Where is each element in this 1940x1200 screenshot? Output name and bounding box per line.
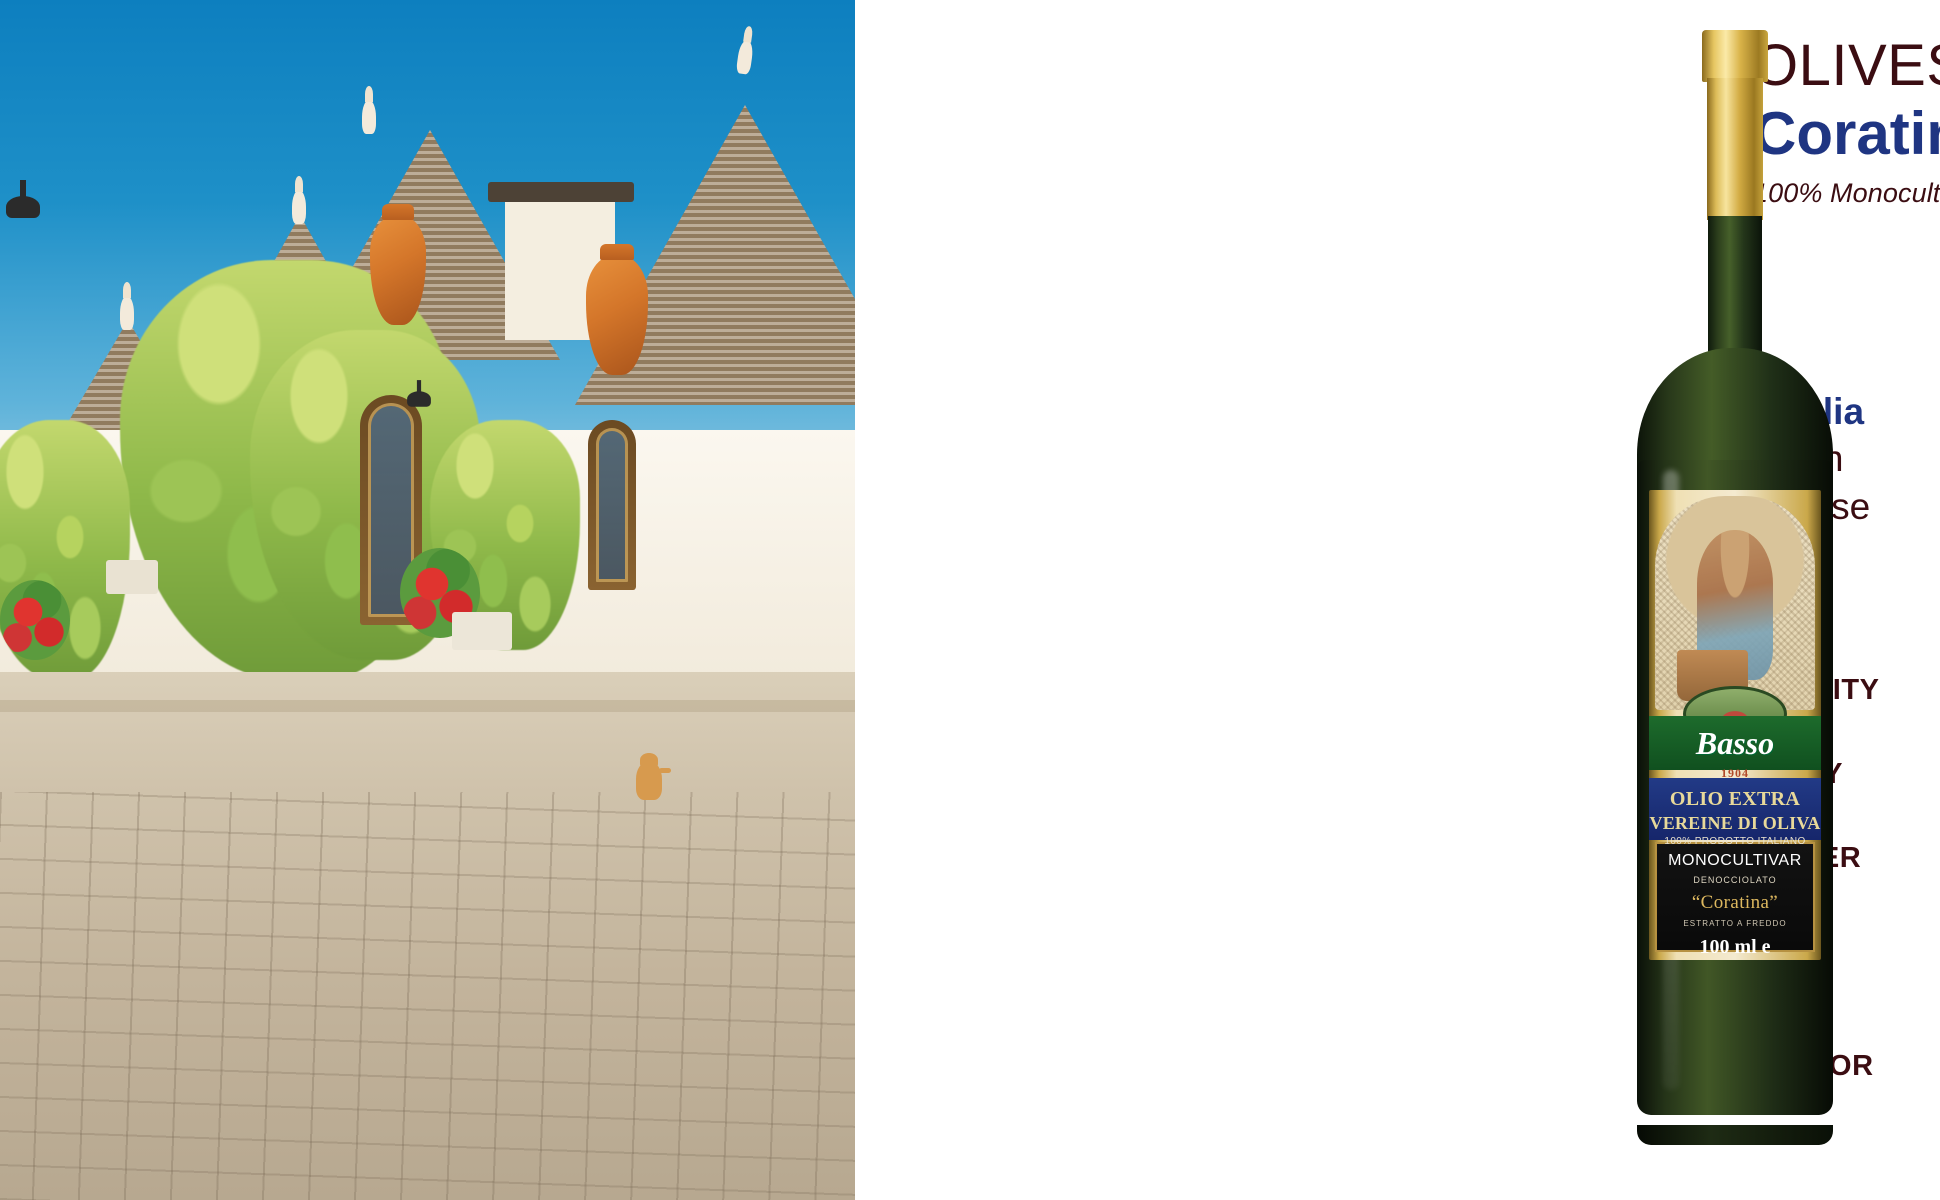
label-line-2: VEREINE DI OLIVA [1650, 813, 1821, 834]
bottle-base [1637, 1125, 1833, 1145]
label-process: DENOCCIOLATO [1693, 875, 1776, 885]
trullo-pinnacle-icon [362, 100, 376, 134]
flower-pot-icon [0, 580, 70, 660]
label-extraction: ESTRATTO A FREDDO [1683, 919, 1786, 928]
label-origin: 100% PRODOTTO ITALIANO [1664, 836, 1805, 847]
label-line-1: OLIO EXTRA [1670, 788, 1800, 811]
planter [106, 560, 158, 594]
product-bottle: Basso 1904 OLIO EXTRA VEREINE DI OLIVA 1… [1570, 0, 1900, 1200]
label-volume: 100 ml e [1699, 936, 1770, 959]
cat-icon [636, 762, 662, 800]
trullo-pinnacle-icon [120, 296, 134, 330]
bottle-neck-foil [1707, 78, 1763, 220]
bottle-cap [1702, 30, 1768, 82]
cobblestone-street [0, 792, 855, 1200]
chimney-cap [488, 182, 634, 202]
street-background-far [0, 672, 855, 792]
bottle-label: Basso 1904 OLIO EXTRA VEREINE DI OLIVA 1… [1649, 490, 1821, 960]
alberobello-trulli-photo [0, 0, 855, 1200]
label-variety: “Coratina” [1692, 892, 1778, 914]
label-blue-band: OLIO EXTRA VEREINE DI OLIVA [1649, 778, 1821, 840]
label-type: MONOCULTIVAR [1668, 852, 1802, 870]
amphora-icon [586, 255, 648, 375]
bottle-graphic: Basso 1904 OLIO EXTRA VEREINE DI OLIVA 1… [1637, 30, 1833, 1145]
trullo-pinnacle-icon [292, 190, 306, 224]
label-black-band: 100% PRODOTTO ITALIANO MONOCULTIVAR DENO… [1655, 842, 1815, 952]
bottle-shoulder [1637, 348, 1833, 478]
label-mosaic-artwork [1655, 496, 1815, 710]
door [588, 420, 636, 590]
amphora-icon [370, 215, 426, 325]
product-info-panel: OLIVES VARIETY Coratina 100% Monoculture… [855, 0, 1940, 1200]
street-lamp-icon [6, 196, 40, 218]
street-lamp-icon [407, 391, 431, 406]
infographic-page: OLIVES VARIETY Coratina 100% Monoculture… [0, 0, 1940, 1200]
brand-name: Basso [1696, 725, 1774, 762]
street-edge [0, 700, 855, 712]
planter [452, 612, 512, 650]
label-brand-band: Basso [1649, 716, 1821, 770]
